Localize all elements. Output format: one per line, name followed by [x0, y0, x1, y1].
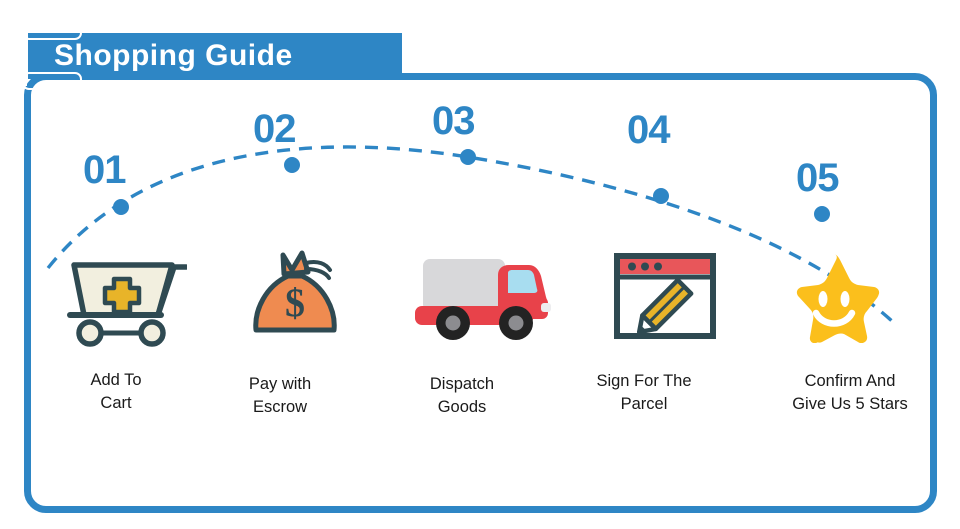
- step-caption-02-line1: Pay with: [185, 373, 375, 396]
- step-number-03: 03: [432, 99, 475, 144]
- step-caption-03: Dispatch Goods: [367, 373, 557, 419]
- step-caption-01-line2: Cart: [21, 392, 211, 415]
- step-caption-03-line2: Goods: [367, 396, 557, 419]
- step-caption-04: Sign For The Parcel: [549, 370, 739, 416]
- step-caption-01-line1: Add To: [21, 369, 211, 392]
- money-bag-icon: $: [248, 248, 343, 353]
- step-number-05: 05: [796, 156, 839, 201]
- step-caption-01: Add To Cart: [21, 369, 211, 415]
- step-caption-04-line2: Parcel: [549, 393, 739, 416]
- ribbon-fold-knob-bottom: [20, 75, 27, 86]
- step-number-02: 02: [253, 107, 296, 152]
- step-caption-05-line2: Give Us 5 Stars: [755, 393, 945, 416]
- shopping-guide-infographic: Shopping Guide 01 Add To Cart: [0, 0, 960, 529]
- page-title: Shopping Guide: [54, 34, 394, 78]
- smiling-star-icon: [785, 251, 881, 348]
- step-caption-02-line2: Escrow: [185, 396, 375, 419]
- step-caption-05-line1: Confirm And: [755, 370, 945, 393]
- shopping-cart-icon: [62, 248, 187, 353]
- svg-text:$: $: [285, 280, 305, 325]
- step-caption-02: Pay with Escrow: [185, 373, 375, 419]
- step-caption-03-line1: Dispatch: [367, 373, 557, 396]
- sign-document-icon: [613, 252, 718, 349]
- step-number-01: 01: [83, 148, 126, 193]
- step-number-04: 04: [627, 108, 670, 153]
- step-caption-04-line1: Sign For The: [549, 370, 739, 393]
- ribbon-fold-knob-top: [20, 25, 27, 36]
- delivery-truck-icon: [410, 253, 555, 353]
- step-caption-05: Confirm And Give Us 5 Stars: [755, 370, 945, 416]
